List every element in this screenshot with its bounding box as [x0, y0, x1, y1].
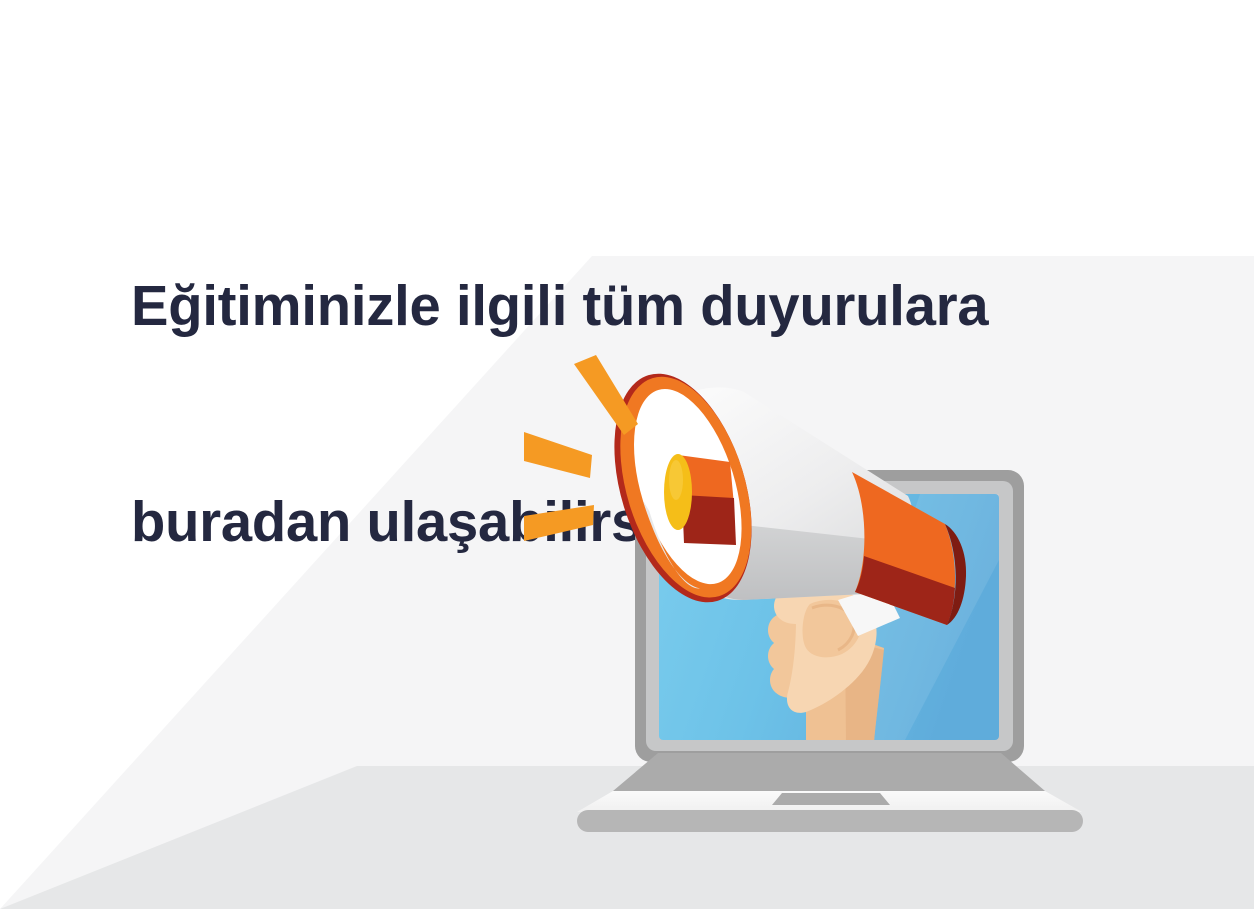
laptop-keyboard-deck [613, 753, 1045, 791]
speaker-core-cap-highlight [669, 460, 683, 500]
laptop-bottom-edge [577, 810, 1083, 832]
sound-wave-icon-middle [524, 432, 592, 478]
poster-canvas: Eğitiminizle ilgili tüm duyurulara burad… [0, 0, 1254, 909]
laptop-trackpad [772, 793, 890, 805]
laptop-base [577, 753, 1083, 832]
sound-wave-icon-bottom [524, 505, 594, 541]
megaphone-laptop-illustration [0, 0, 1254, 909]
